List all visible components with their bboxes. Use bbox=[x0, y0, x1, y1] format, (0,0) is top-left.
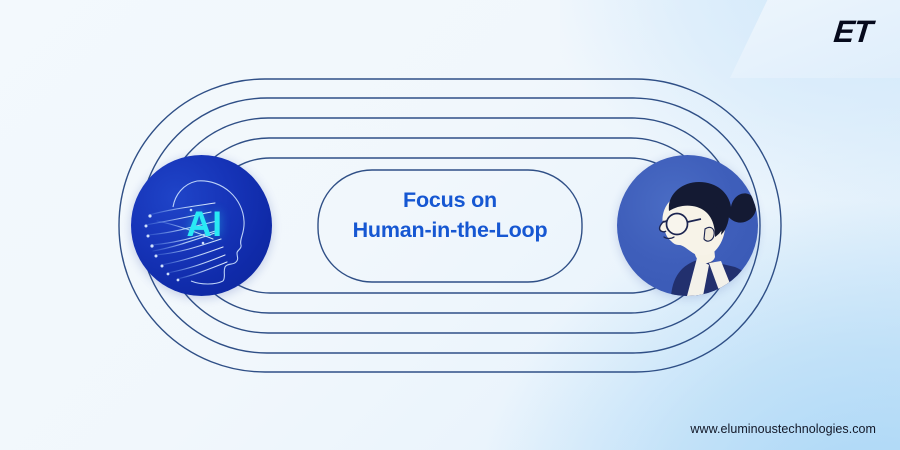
center-label-line1: Focus on bbox=[403, 188, 497, 212]
human-profile-illustration bbox=[617, 155, 758, 296]
center-label-line2: Human-in-the-Loop bbox=[330, 216, 570, 246]
human-node bbox=[617, 155, 758, 296]
ai-node: AI bbox=[131, 155, 272, 296]
center-label: Focus on Human-in-the-Loop bbox=[330, 186, 570, 245]
ai-node-label: AI bbox=[131, 205, 272, 245]
infographic-canvas: ET bbox=[0, 0, 900, 450]
footer-website-url: www.eluminoustechnologies.com bbox=[690, 422, 876, 436]
